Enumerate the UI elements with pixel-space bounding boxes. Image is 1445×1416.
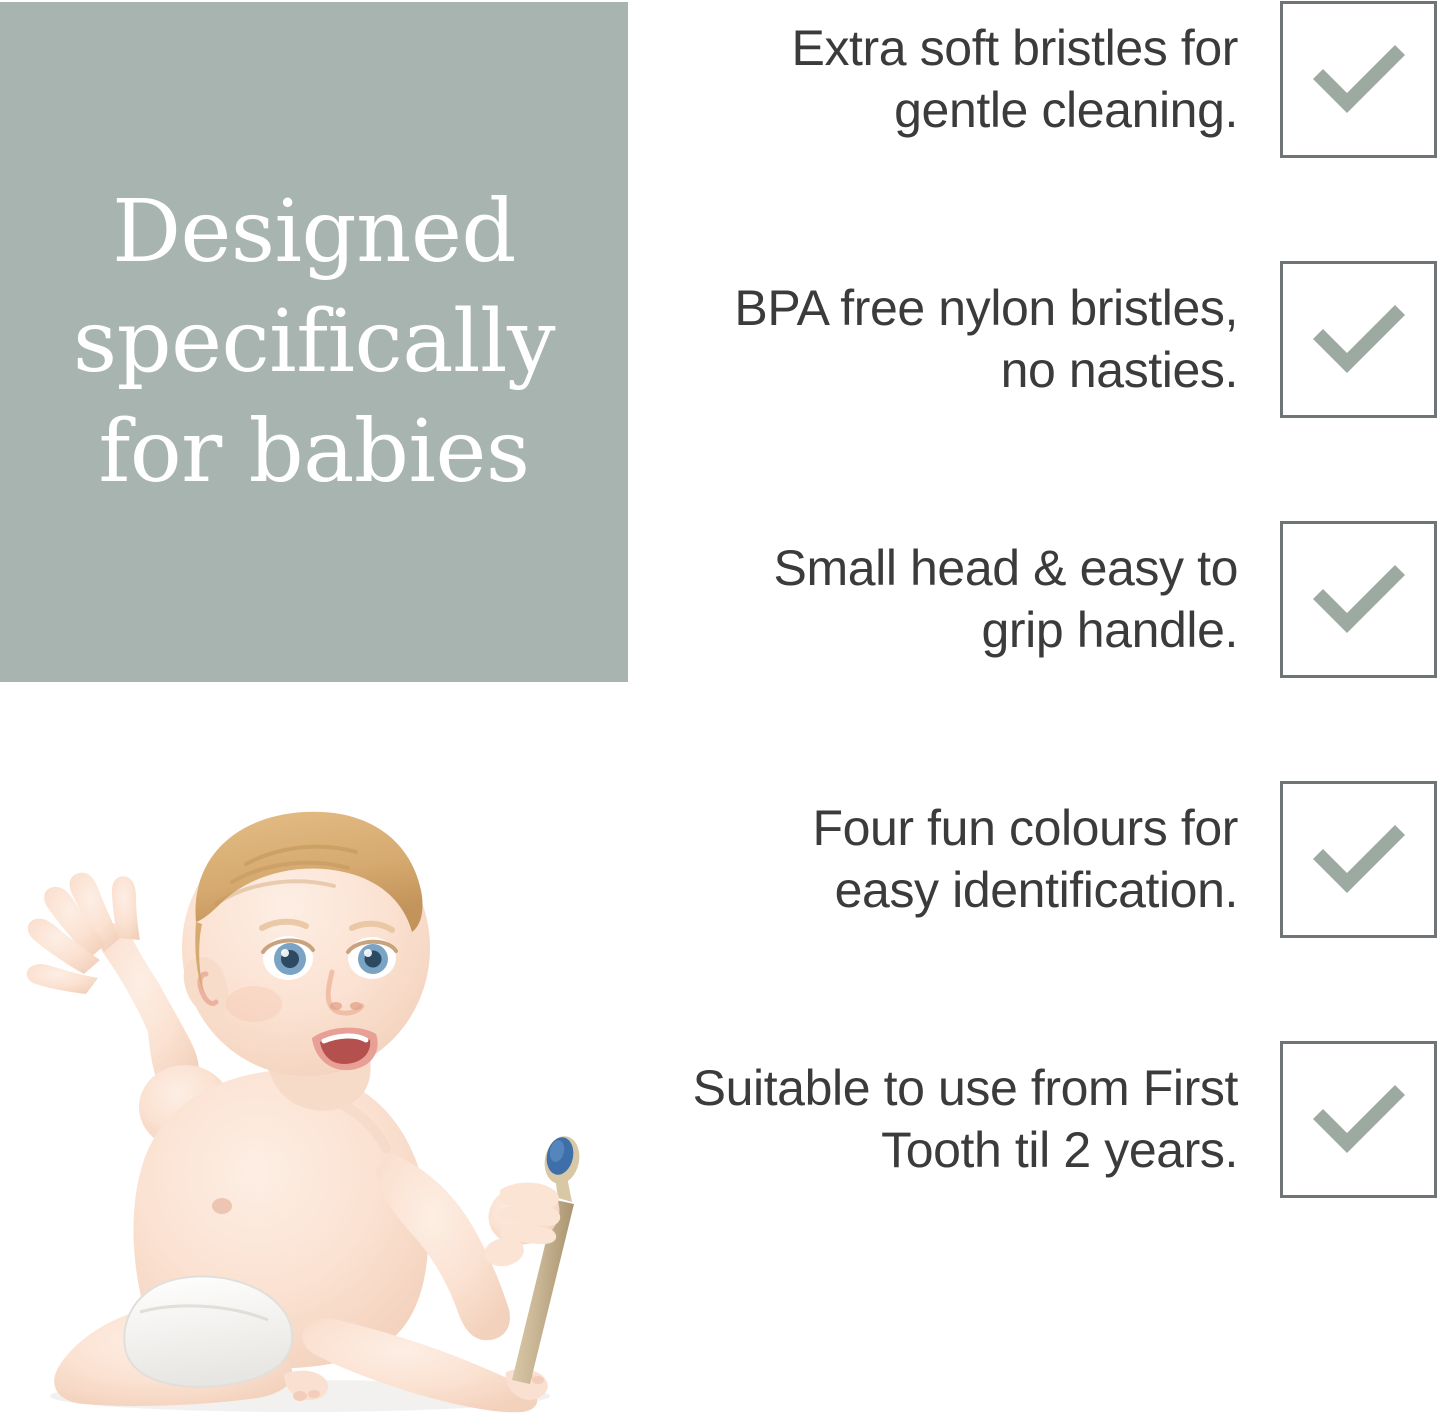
feature-2-line-1: BPA free nylon bristles,	[734, 280, 1238, 336]
feature-list: Extra soft bristles for gentle cleaning.…	[640, 0, 1445, 1416]
checkmark-icon	[1307, 815, 1411, 903]
checkbox-2[interactable]	[1280, 261, 1437, 418]
feature-5-line-1: Suitable to use from First	[693, 1060, 1238, 1116]
feature-4-line-1: Four fun colours for	[812, 800, 1238, 856]
product-feature-infographic: Designed specifically for babies	[0, 0, 1445, 1416]
feature-item-2: BPA free nylon bristles, no nasties.	[640, 255, 1445, 423]
feature-3-line-2: grip handle.	[981, 602, 1238, 658]
feature-item-1: Extra soft bristles for gentle cleaning.	[640, 0, 1445, 163]
feature-text-1: Extra soft bristles for gentle cleaning.	[792, 17, 1281, 141]
hero-title-line-3: for babies	[73, 397, 555, 507]
feature-3-line-1: Small head & easy to	[774, 540, 1239, 596]
feature-text-3: Small head & easy to grip handle.	[774, 537, 1281, 661]
feature-text-4: Four fun colours for easy identification…	[812, 797, 1280, 921]
feature-item-5: Suitable to use from First Tooth til 2 y…	[640, 1035, 1445, 1203]
feature-4-line-2: easy identification.	[835, 862, 1238, 918]
checkmark-icon	[1307, 295, 1411, 383]
checkbox-3[interactable]	[1280, 521, 1437, 678]
baby-photo	[0, 762, 640, 1416]
feature-1-line-2: gentle cleaning.	[894, 82, 1238, 138]
feature-item-4: Four fun colours for easy identification…	[640, 775, 1445, 943]
hero-title-line-1: Designed	[73, 177, 555, 287]
feature-text-5: Suitable to use from First Tooth til 2 y…	[693, 1057, 1280, 1181]
feature-item-3: Small head & easy to grip handle.	[640, 515, 1445, 683]
baby-illustration	[0, 762, 640, 1416]
checkbox-4[interactable]	[1280, 781, 1437, 938]
checkbox-1[interactable]	[1280, 1, 1437, 158]
feature-1-line-1: Extra soft bristles for	[792, 20, 1239, 76]
feature-2-line-2: no nasties.	[1001, 342, 1238, 398]
checkmark-icon	[1307, 1075, 1411, 1163]
checkmark-icon	[1307, 35, 1411, 123]
checkmark-icon	[1307, 555, 1411, 643]
left-column: Designed specifically for babies	[0, 0, 640, 1416]
feature-text-2: BPA free nylon bristles, no nasties.	[734, 277, 1280, 401]
hero-title-line-2: specifically	[73, 287, 555, 397]
feature-5-line-2: Tooth til 2 years.	[881, 1122, 1238, 1178]
hero-panel: Designed specifically for babies	[0, 2, 628, 682]
page-title: Designed specifically for babies	[33, 177, 595, 507]
checkbox-5[interactable]	[1280, 1041, 1437, 1198]
